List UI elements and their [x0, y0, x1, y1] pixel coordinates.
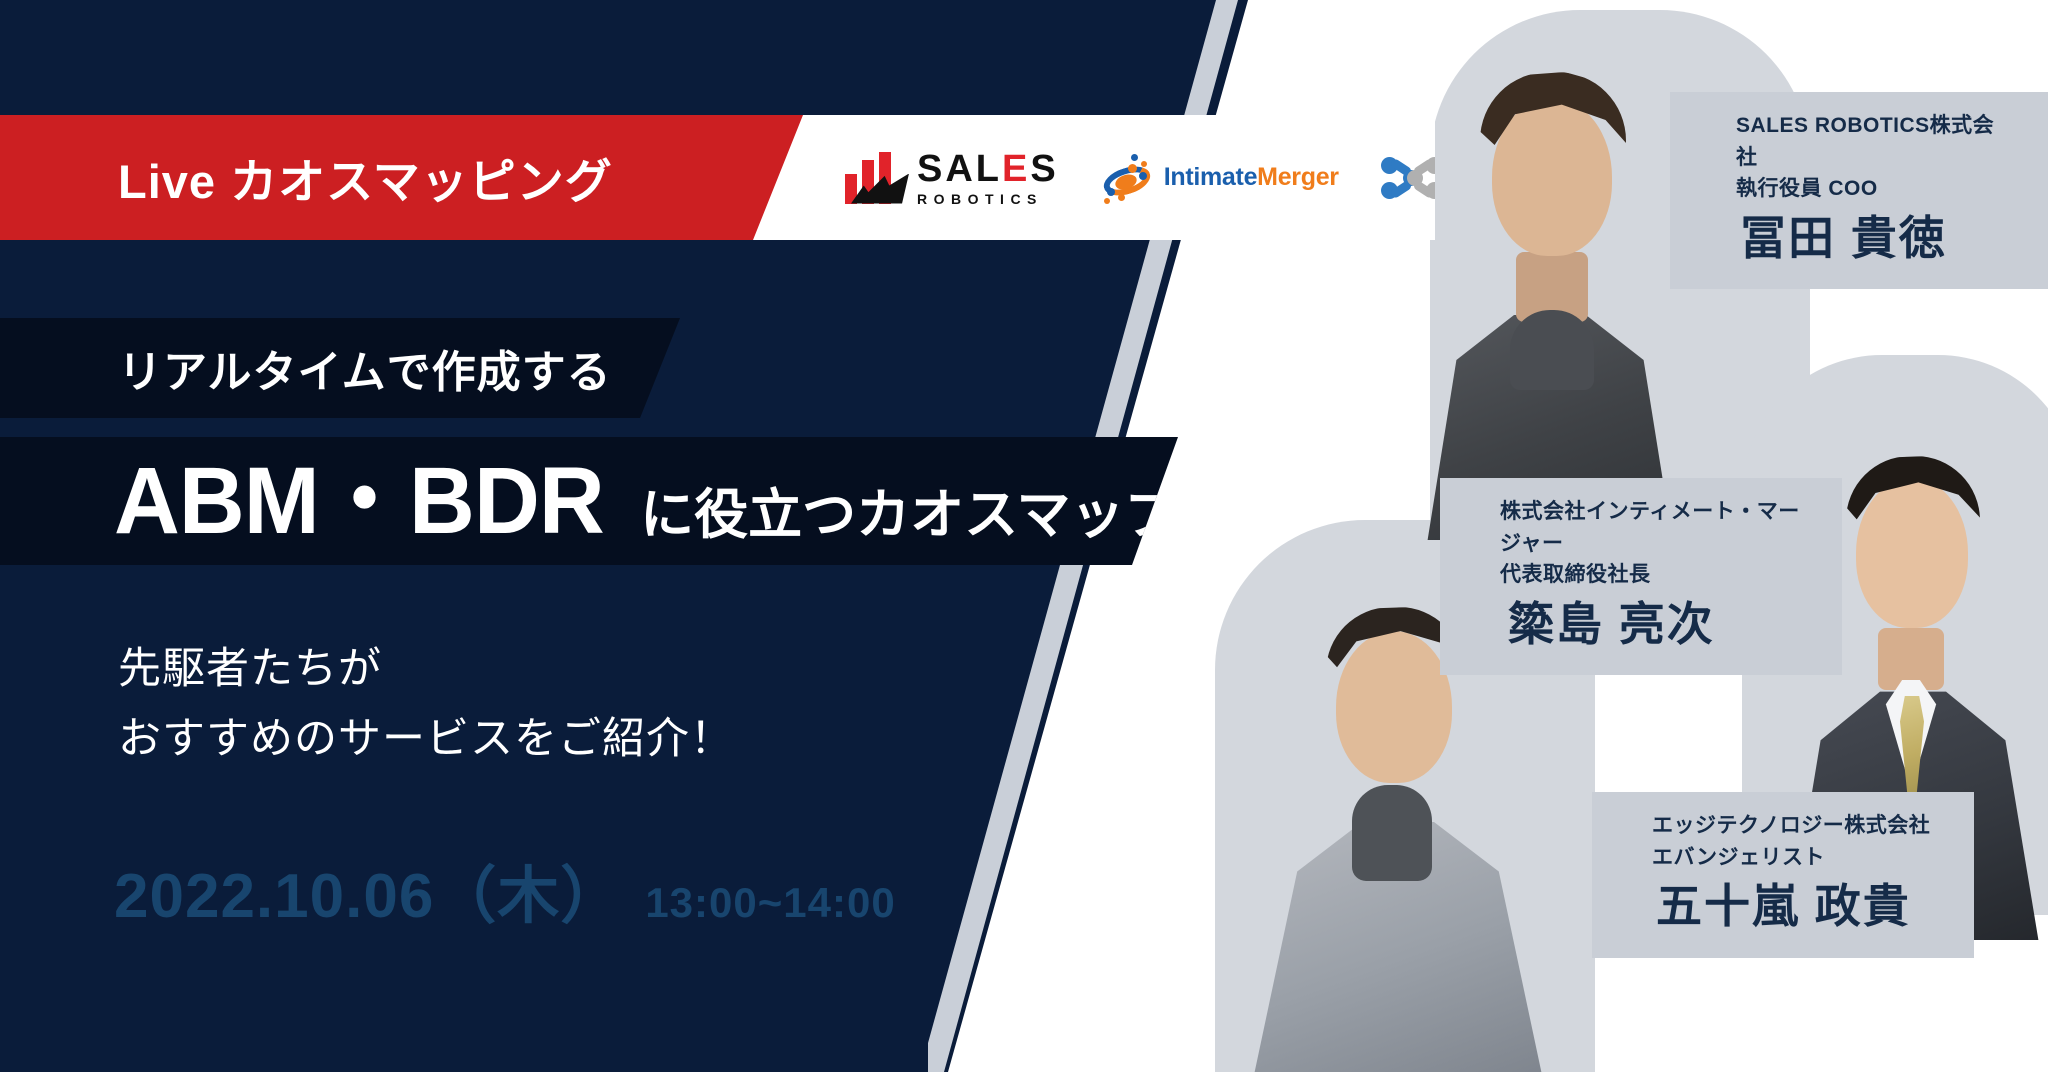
event-datetime: 2022.10.06（木） 13:00~14:00: [114, 845, 896, 935]
headline-main-big: ABM・BDR: [114, 454, 604, 549]
node-dot: [1128, 164, 1137, 173]
node-dot: [1104, 198, 1110, 204]
node-dot: [1139, 172, 1147, 180]
webinar-banner: SALES ROBOTICS株式会社 執行役員 COO 冨田 貴徳 株式会社イン…: [0, 0, 2048, 1072]
node-dot: [1131, 154, 1138, 161]
node-dot: [1118, 194, 1125, 201]
wordmark-part-1: SAL: [917, 148, 1002, 190]
speaker-name: 冨田 貴徳: [1708, 209, 2010, 268]
body-copy-line-1: 先駆者たちが: [118, 635, 734, 705]
speaker-organization: エッジテクノロジー株式会社: [1630, 810, 1936, 842]
geaine-molecule-icon: [1381, 155, 1443, 201]
sales-robotics-logo: SALES ROBOTICS: [845, 150, 1059, 206]
speaker-nameplate-yanashima: 株式会社インティメート・マージャー 代表取締役社長 簗島 亮次: [1440, 478, 1842, 675]
photo-head: [1856, 478, 1968, 628]
speaker-organization: SALES ROBOTICS株式会社: [1708, 110, 2010, 173]
event-date: 2022.10.06（木）: [114, 845, 623, 935]
intimate-merger-wordmark: IntimateMerger: [1164, 163, 1339, 192]
headline-main-small: に役立つカオスマップ: [640, 470, 1178, 549]
wordmark-accent: Merger: [1257, 163, 1339, 191]
headline-sub-text: リアルタイムで作成する: [118, 336, 612, 400]
wordmark-accent: E: [1002, 148, 1030, 190]
body-copy-line-2: おすすめのサービスをご紹介！: [118, 705, 734, 775]
headline-main-band: ABM・BDR に役立つカオスマップ: [0, 437, 1178, 565]
node-dot: [1141, 161, 1147, 167]
speaker-name: 簗島 亮次: [1478, 595, 1804, 654]
body-copy: 先駆者たちが おすすめのサービスをご紹介！: [118, 635, 734, 774]
speaker-organization: 株式会社インティメート・マージャー: [1478, 496, 1804, 559]
sales-robotics-wordmark: SALES: [917, 150, 1059, 188]
event-time: 13:00~14:00: [645, 879, 895, 927]
sales-robotics-subtitle: ROBOTICS: [917, 192, 1059, 206]
intimate-merger-globe-icon: [1101, 152, 1155, 204]
photo-turtleneck: [1352, 785, 1432, 881]
headline-sub-band: リアルタイムで作成する: [0, 318, 680, 418]
speaker-role: 執行役員 COO: [1708, 173, 2010, 205]
sponsor-logo-strip: SALES ROBOTICS IntimateMerger: [735, 115, 1435, 240]
node-dot: [1107, 188, 1115, 196]
wordmark-part-1: Intimate: [1164, 163, 1257, 191]
speaker-name: 五十嵐 政貴: [1630, 877, 1936, 936]
photo-head: [1336, 631, 1452, 783]
speaker-role: エバンジェリスト: [1630, 842, 1936, 874]
link-gray-1: [1412, 157, 1435, 177]
speaker-nameplate-igarashi: エッジテクノロジー株式会社 エバンジェリスト 五十嵐 政貴: [1592, 792, 1974, 958]
live-ribbon-label: Live カオスマッピング: [118, 143, 613, 212]
intimate-merger-logo: IntimateMerger: [1101, 152, 1339, 204]
sales-robotics-bars-icon: [845, 152, 907, 204]
speaker-role: 代表取締役社長: [1478, 559, 1804, 591]
photo-collar: [1510, 310, 1594, 390]
wordmark-part-2: S: [1030, 148, 1058, 190]
speaker-nameplate-tomita: SALES ROBOTICS株式会社 執行役員 COO 冨田 貴徳: [1670, 92, 2048, 289]
